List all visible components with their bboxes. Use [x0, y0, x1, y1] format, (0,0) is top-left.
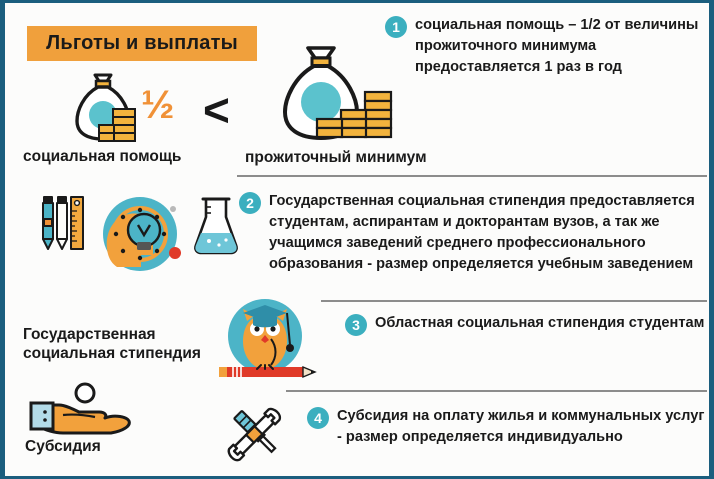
divider-3 — [286, 390, 707, 392]
list-item-2: 2 Государственная социальная стипендия п… — [239, 191, 709, 275]
caption-living-wage: прожиточный минимум — [245, 148, 427, 167]
divider-2 — [321, 300, 707, 302]
caption-subsidy: Субсидия — [25, 437, 101, 456]
money-bag-large-icon — [271, 46, 401, 151]
divider-1 — [237, 175, 707, 177]
list-item-4-text: Субсидия на оплату жилья и коммунальных … — [337, 406, 707, 448]
caption-state-stipend: Государственная социальная стипендия — [23, 325, 223, 363]
owl-graduate-on-pencil-icon — [217, 293, 317, 390]
header-banner: Льготы и выплаты — [27, 26, 257, 61]
lab-flask-icon — [193, 195, 239, 260]
number-badge-4: 4 — [307, 407, 329, 429]
pens-and-ruler-icon — [39, 193, 87, 260]
number-badge-3: 3 — [345, 314, 367, 336]
head-idea-lightbulb-icon — [97, 189, 187, 284]
list-item-2-text: Государственная социальная стипендия пре… — [269, 191, 709, 275]
fraction-half-glyph: ½ — [141, 85, 174, 125]
list-item-1-text: социальная помощь – 1/2 от величины прож… — [415, 15, 705, 78]
wrench-and-screwdriver-icon — [221, 399, 291, 470]
caption-social-help: социальная помощь — [23, 147, 181, 166]
number-badge-2: 2 — [239, 192, 261, 214]
number-badge-1: 1 — [385, 16, 407, 38]
list-item-4: 4 Субсидия на оплату жилья и коммунальны… — [307, 406, 707, 448]
list-item-3-text: Областная социальная стипендия студентам — [375, 313, 704, 334]
banner-title: Льготы и выплаты — [46, 32, 238, 55]
list-item-3: 3 Областная социальная стипендия студент… — [345, 313, 707, 336]
list-item-1: 1 социальная помощь – 1/2 от величины пр… — [385, 15, 705, 78]
open-hand-with-coin-icon — [29, 381, 141, 442]
less-than-glyph: < — [203, 87, 230, 133]
infographic-canvas: Льготы и выплаты ½ < социальная помощь — [0, 0, 714, 479]
